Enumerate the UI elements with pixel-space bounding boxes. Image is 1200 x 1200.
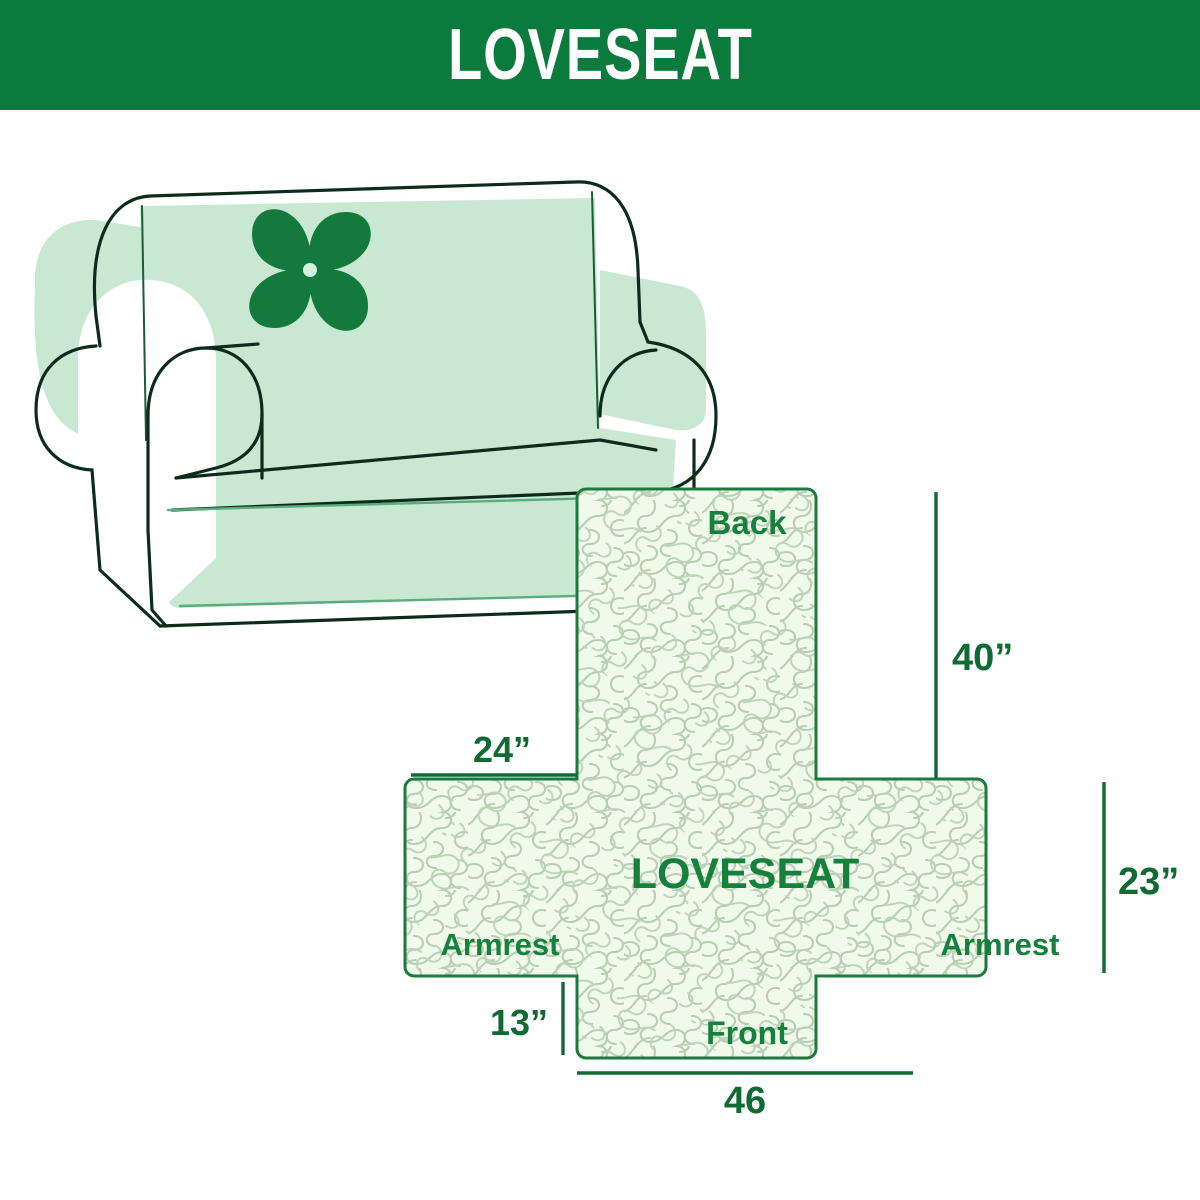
pinwheel-hub	[303, 263, 317, 277]
dimension-value-back-height: 40”	[952, 637, 1013, 679]
dimension-value-seat-height: 23”	[1118, 861, 1179, 903]
dimension-value-front-width: 46	[724, 1080, 766, 1122]
diagram-svg: Back LOVESEAT Armrest Armrest Front 40” …	[0, 110, 1200, 1200]
diagram-area: Back LOVESEAT Armrest Armrest Front 40” …	[0, 110, 1200, 1200]
panel-label-back: Back	[708, 504, 788, 541]
dimension-value-armrest-width: 24”	[473, 729, 531, 770]
panel-label-front: Front	[706, 1015, 788, 1051]
panel-label-armrest-left: Armrest	[441, 927, 560, 962]
loveseat-size-diagram-page: LOVESEAT	[0, 0, 1200, 1200]
panel-label-seat: LOVESEAT	[631, 850, 860, 898]
dimension-value-front-height: 13”	[490, 1002, 548, 1043]
header-banner: LOVESEAT	[0, 0, 1200, 110]
panel-label-armrest-right: Armrest	[941, 927, 1060, 962]
page-title: LOVESEAT	[448, 19, 753, 91]
